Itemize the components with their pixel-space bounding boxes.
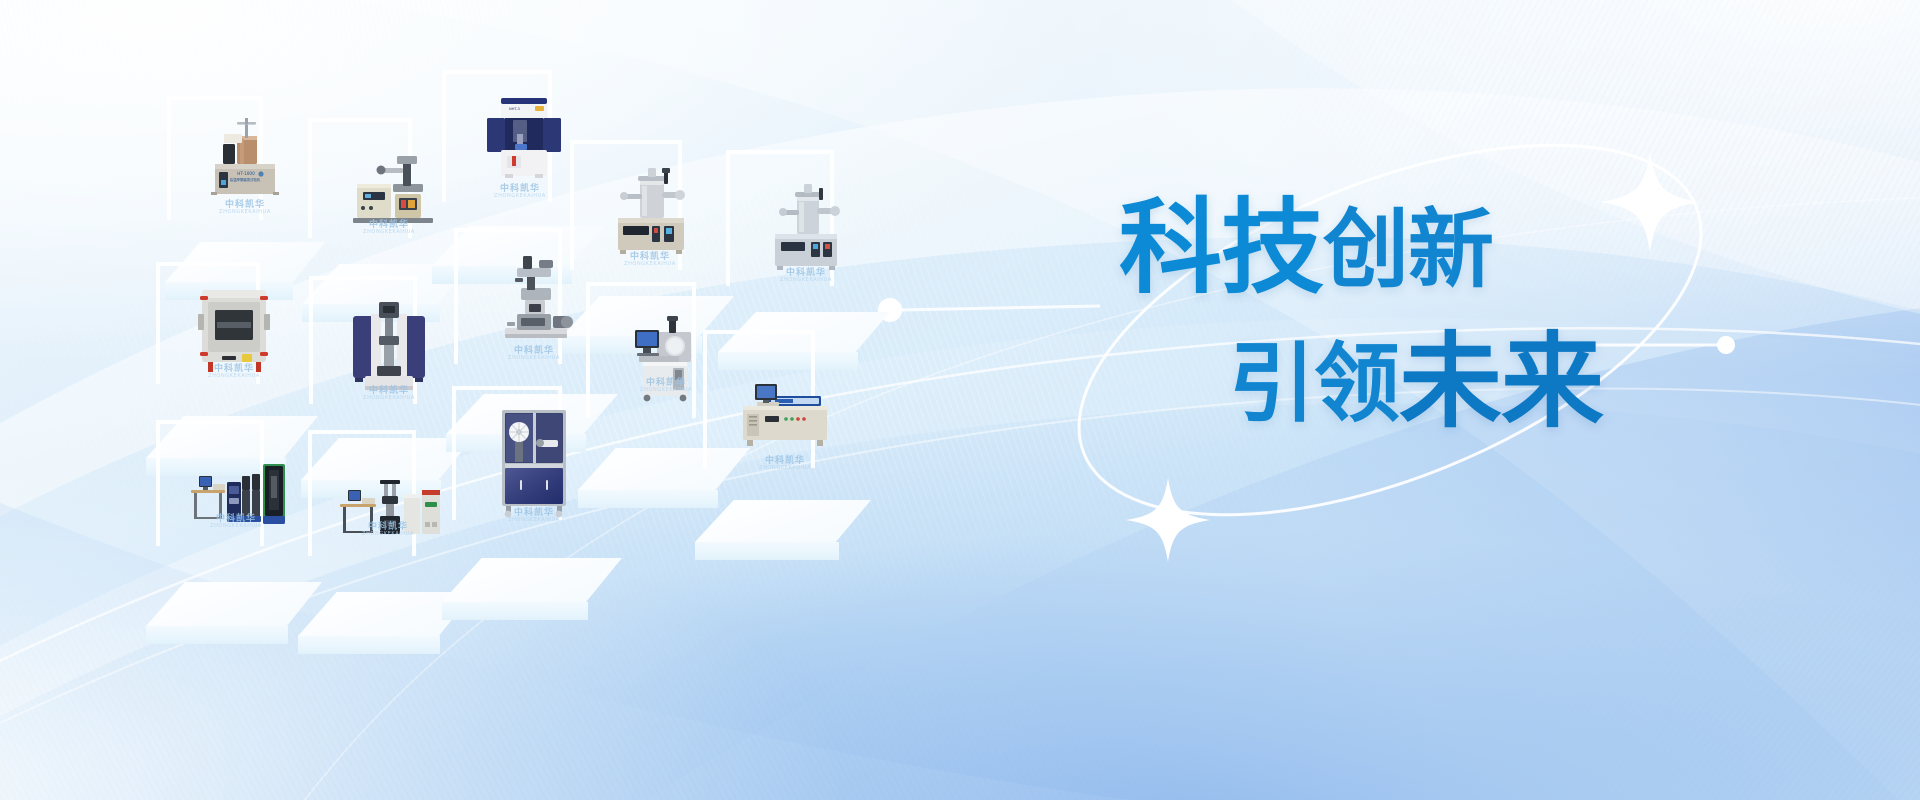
headline-line2-soft: 引领	[1229, 334, 1399, 434]
product-photo	[488, 402, 580, 520]
hero-banner: HT-1000 高温摩擦磨损试验机 中科凯华 ZHONGKEKAIHUA	[0, 0, 1920, 800]
headline-line1-soft: 创新	[1323, 200, 1493, 300]
headline-line2-strong: 未来	[1399, 322, 1603, 442]
product-photo: HT-1000 高温摩擦磨损试验机	[199, 112, 291, 208]
product-pedestal	[424, 558, 644, 648]
hero-headline: 科技创新 引领未来	[1105, 195, 1745, 525]
orbit-connector-left	[900, 306, 1100, 310]
headline-line1-strong: 科技	[1119, 188, 1323, 308]
headline-line-2: 引领未来	[1229, 329, 1745, 435]
product-photo	[757, 170, 855, 276]
product-photo	[186, 278, 282, 376]
svg-text:HT-1000: HT-1000	[237, 171, 255, 176]
svg-text:高温摩擦磨损试验机: 高温摩擦磨损试验机	[230, 177, 261, 182]
product-photo	[183, 446, 289, 536]
product-pedestal	[677, 500, 893, 586]
headline-line-1: 科技创新	[1119, 195, 1745, 301]
product-podium-p13[interactable]: 中科凯华 ZHONGKEKAIHUA	[424, 386, 644, 648]
product-photo	[341, 290, 437, 396]
svg-text:NHT-3: NHT-3	[509, 107, 520, 111]
product-photo	[733, 362, 837, 454]
product-podium-p10[interactable]: 中科凯华 ZHONGKEKAIHUA	[677, 330, 893, 586]
